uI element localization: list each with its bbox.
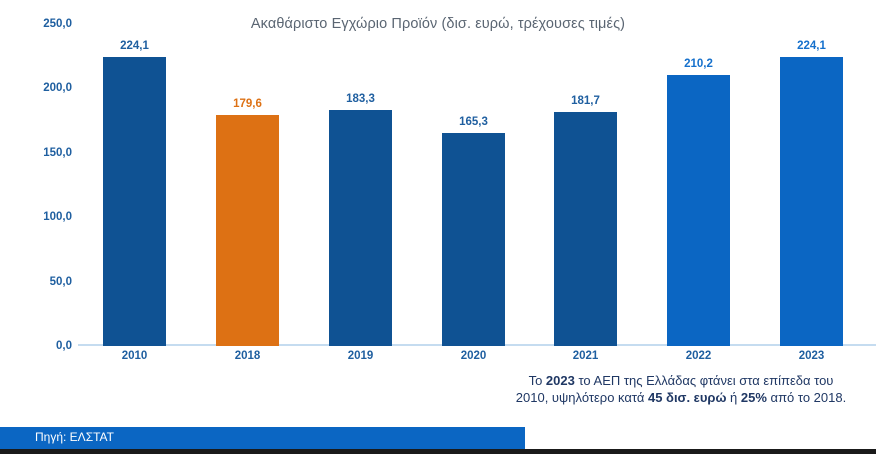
y-axis-tick: 200,0 bbox=[43, 82, 72, 94]
chart-page: Ακαθάριστο Εγχώριο Προϊόν (δισ. ευρώ, τρ… bbox=[0, 0, 876, 454]
y-axis-tick: 100,0 bbox=[43, 211, 72, 223]
bottom-strip bbox=[0, 449, 876, 454]
y-axis: 0,050,0100,0150,0200,0250,0 bbox=[0, 24, 72, 346]
bar-2010[interactable] bbox=[103, 57, 166, 346]
x-axis-tick-2010: 2010 bbox=[103, 350, 166, 362]
caption-text-5: από το 2018. bbox=[767, 390, 846, 405]
caption-line-2: 2010, υψηλότερο κατά 45 δισ. ευρώ ή 25% … bbox=[516, 390, 846, 405]
x-axis-tick-2022: 2022 bbox=[667, 350, 730, 362]
x-axis-tick-2019: 2019 bbox=[329, 350, 392, 362]
plot-area: 224,1179,6183,3165,3181,7210,2224,1 bbox=[78, 24, 868, 346]
bar-2021[interactable] bbox=[554, 112, 617, 346]
bar-value-label-2010: 224,1 bbox=[120, 40, 149, 52]
bar-slot: 224,1 bbox=[103, 24, 166, 346]
bar-slot: 181,7 bbox=[554, 24, 617, 346]
caption-text-1: Το bbox=[529, 373, 546, 388]
x-axis-tick-2023: 2023 bbox=[780, 350, 843, 362]
caption-text-4: ή bbox=[726, 390, 740, 405]
caption-line-1: Το 2023 το ΑΕΠ της Ελλάδας φτάνει στα επ… bbox=[529, 373, 834, 388]
caption-text-2: το ΑΕΠ της Ελλάδας φτάνει στα επίπεδα το… bbox=[575, 373, 834, 388]
x-axis-tick-2020: 2020 bbox=[442, 350, 505, 362]
x-axis-tick-2018: 2018 bbox=[216, 350, 279, 362]
bar-slot: 179,6 bbox=[216, 24, 279, 346]
bar-2019[interactable] bbox=[329, 110, 392, 346]
caption-bold-percent: 25% bbox=[741, 390, 767, 405]
bar-value-label-2023: 224,1 bbox=[797, 40, 826, 52]
bar-2018[interactable] bbox=[216, 115, 279, 346]
bar-value-label-2021: 181,7 bbox=[571, 95, 600, 107]
bar-slot: 210,2 bbox=[667, 24, 730, 346]
bar-slot: 165,3 bbox=[442, 24, 505, 346]
bar-2022[interactable] bbox=[667, 75, 730, 346]
caption-bold-amount: 45 δισ. ευρώ bbox=[648, 390, 726, 405]
bar-slot: 224,1 bbox=[780, 24, 843, 346]
bar-2023[interactable] bbox=[780, 57, 843, 346]
y-axis-tick: 150,0 bbox=[43, 147, 72, 159]
bar-value-label-2022: 210,2 bbox=[684, 58, 713, 70]
bar-value-label-2020: 165,3 bbox=[459, 116, 488, 128]
y-axis-tick: 250,0 bbox=[43, 18, 72, 30]
y-axis-tick: 0,0 bbox=[56, 340, 72, 352]
bar-slot: 183,3 bbox=[329, 24, 392, 346]
y-axis-tick: 50,0 bbox=[50, 276, 72, 288]
caption-text-3: 2010, υψηλότερο κατά bbox=[516, 390, 648, 405]
bar-value-label-2018: 179,6 bbox=[233, 98, 262, 110]
x-axis-tick-2021: 2021 bbox=[554, 350, 617, 362]
bar-2020[interactable] bbox=[442, 133, 505, 346]
source-label: Πηγή: ΕΛΣΤΑΤ bbox=[35, 430, 114, 444]
caption: Το 2023 το ΑΕΠ της Ελλάδας φτάνει στα επ… bbox=[486, 372, 876, 406]
bar-value-label-2019: 183,3 bbox=[346, 93, 375, 105]
caption-bold-year: 2023 bbox=[546, 373, 575, 388]
